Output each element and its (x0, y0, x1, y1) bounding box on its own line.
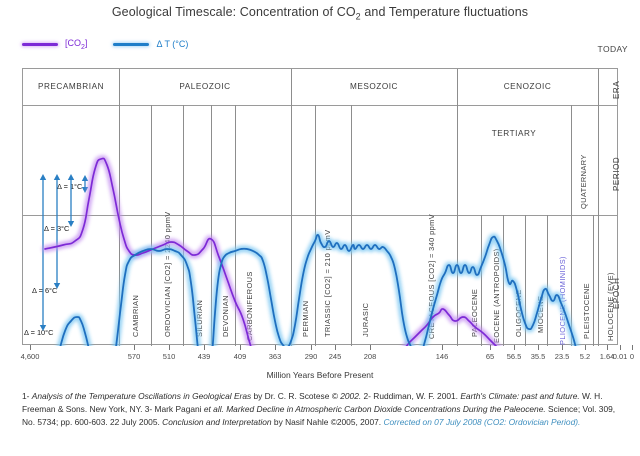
x-tick (607, 345, 608, 350)
period-divider-2 (151, 105, 152, 346)
legend-item-co2: [CO2] (22, 38, 87, 51)
period-divider-quaternary (571, 105, 572, 346)
legend-item-temperature: Δ T (°C) (113, 39, 188, 49)
delta-arrow-head-up (40, 174, 46, 180)
period-divider-9 (457, 105, 458, 346)
x-tick-label: 409 (234, 352, 247, 361)
x-tick-label: 208 (364, 352, 377, 361)
period-label-cambrian: CAMBRIAN (131, 295, 140, 337)
side-label-era: ERA (612, 81, 621, 99)
epoch-label-miocene: MIOCENE (536, 296, 545, 333)
era-label-mesozoic: MESOZOIC (291, 82, 457, 91)
x-tick-label: 146 (436, 352, 449, 361)
era-label-paleozoic: PALEOZOIC (119, 82, 291, 91)
x-tick-label: 5.2 (580, 352, 590, 361)
side-label-period: PERIOD (612, 157, 621, 191)
x-tick-label: 570 (128, 352, 141, 361)
period-divider-3 (183, 105, 184, 346)
era-label-cenozoic: CENOZOIC (457, 82, 598, 91)
delta-annotation-1c: Δ = 1°C (57, 182, 82, 191)
period-label-cretaceous: CRETACEOUS [CO2] = 340 ppmV (427, 214, 436, 339)
x-tick (169, 345, 170, 350)
x-tick (335, 345, 336, 350)
epoch-divider-5 (593, 215, 594, 346)
side-label-epoch: EPOCH (612, 278, 621, 309)
period-label-ordovician: ORDOVICIAN [CO2] = 2240 ppmV (163, 211, 172, 337)
delta-arrow-head-down (82, 187, 88, 193)
page-title: Geological Timescale: Concentration of C… (0, 5, 640, 22)
legend-swatch-temperature (113, 43, 149, 46)
x-tick-label: 0 (630, 352, 634, 361)
chart-root: Geological Timescale: Concentration of C… (0, 0, 640, 456)
x-tick (442, 345, 443, 350)
x-tick-label: 23.5 (555, 352, 570, 361)
footnote: 1- Analysis of the Temperature Oscillati… (22, 390, 622, 430)
legend-label-temperature: Δ T (°C) (156, 39, 188, 49)
x-tick (370, 345, 371, 350)
x-tick (585, 345, 586, 350)
epoch-label-oligocene: OLIGOCENE (514, 289, 523, 337)
epoch-label-pliocene: PLIOCENE (HOMINIDS) (558, 256, 567, 345)
period-divider-8 (351, 105, 352, 346)
x-tick-label: 439 (198, 352, 211, 361)
period-label-permian: PERMIAN (301, 301, 310, 337)
period-divider-1 (119, 105, 120, 346)
x-tick-label: 363 (269, 352, 282, 361)
epoch-divider-2 (503, 215, 504, 346)
chart-legend: [CO2] Δ T (°C) (22, 38, 188, 51)
x-tick (134, 345, 135, 350)
x-tick (562, 345, 563, 350)
x-tick-label: 56.5 (507, 352, 522, 361)
delta-annotation-3c: Δ = 3°C (44, 224, 69, 233)
period-label-triassic: TRIASSIC [CO2] = 210 ppmV (323, 229, 332, 337)
x-tick-label: 0.01 (613, 352, 628, 361)
period-divider-5 (235, 105, 236, 346)
epoch-label-eocene: EOCENE (ANTROPOIDS) (492, 248, 501, 343)
period-label-silurian: SILURIAN (195, 300, 204, 337)
delta-arrow-head-up (82, 175, 88, 181)
x-tick (311, 345, 312, 350)
x-tick (632, 345, 633, 350)
x-tick-label: 4,600 (21, 352, 40, 361)
delta-arrow-head-up (68, 174, 74, 180)
epoch-label-paleocene: PALEOCENE (470, 289, 479, 337)
x-tick (204, 345, 205, 350)
plot-area: PRECAMBRIAN PALEOZOIC MESOZOIC CENOZOIC … (22, 68, 618, 345)
temperature-arrows (40, 174, 88, 331)
x-tick (30, 345, 31, 350)
epoch-label-pleistocene: PLEISTOCENE (582, 283, 591, 339)
x-tick (490, 345, 491, 350)
today-label: TODAY (598, 44, 629, 54)
period-label-devonian: DEVONIAN (221, 295, 230, 337)
x-tick-label: 290 (305, 352, 318, 361)
period-divider-6 (291, 105, 292, 346)
x-tick (514, 345, 515, 350)
era-label-precambrian: PRECAMBRIAN (23, 82, 119, 91)
delta-arrow-head-up (54, 174, 60, 180)
x-tick-label: 510 (163, 352, 176, 361)
data-curves (23, 69, 619, 346)
epoch-divider-3 (525, 215, 526, 346)
delta-annotation-10c: Δ = 10°C (24, 328, 53, 337)
period-divider-7 (315, 105, 316, 346)
x-tick (620, 345, 621, 350)
period-label-jurasic: JURASIC (361, 303, 370, 337)
x-tick (275, 345, 276, 350)
x-tick (538, 345, 539, 350)
x-tick-label: 35.5 (531, 352, 546, 361)
x-tick-label: 65 (486, 352, 494, 361)
period-divider-4 (211, 105, 212, 346)
epoch-divider-1 (481, 215, 482, 346)
x-tick (240, 345, 241, 350)
era-band-divider (23, 105, 617, 106)
x-axis-title: Million Years Before Present (0, 370, 640, 380)
period-band-divider (23, 215, 617, 216)
period-label-tertiary: TERTIARY (457, 129, 571, 138)
legend-swatch-co2 (22, 43, 58, 46)
epoch-divider-4 (547, 215, 548, 346)
legend-label-co2: [CO2] (65, 38, 87, 51)
side-axis-divider (598, 69, 599, 346)
period-label-quaternary: QUATERNARY (579, 154, 588, 209)
footnote-correction: Corrected on 07 July 2008 (CO2: Ordovici… (383, 417, 580, 427)
x-tick-label: 245 (329, 352, 342, 361)
period-label-carboniferous: CARBONIFEROUS (245, 271, 254, 341)
delta-annotation-6c: Δ = 6°C (32, 286, 57, 295)
